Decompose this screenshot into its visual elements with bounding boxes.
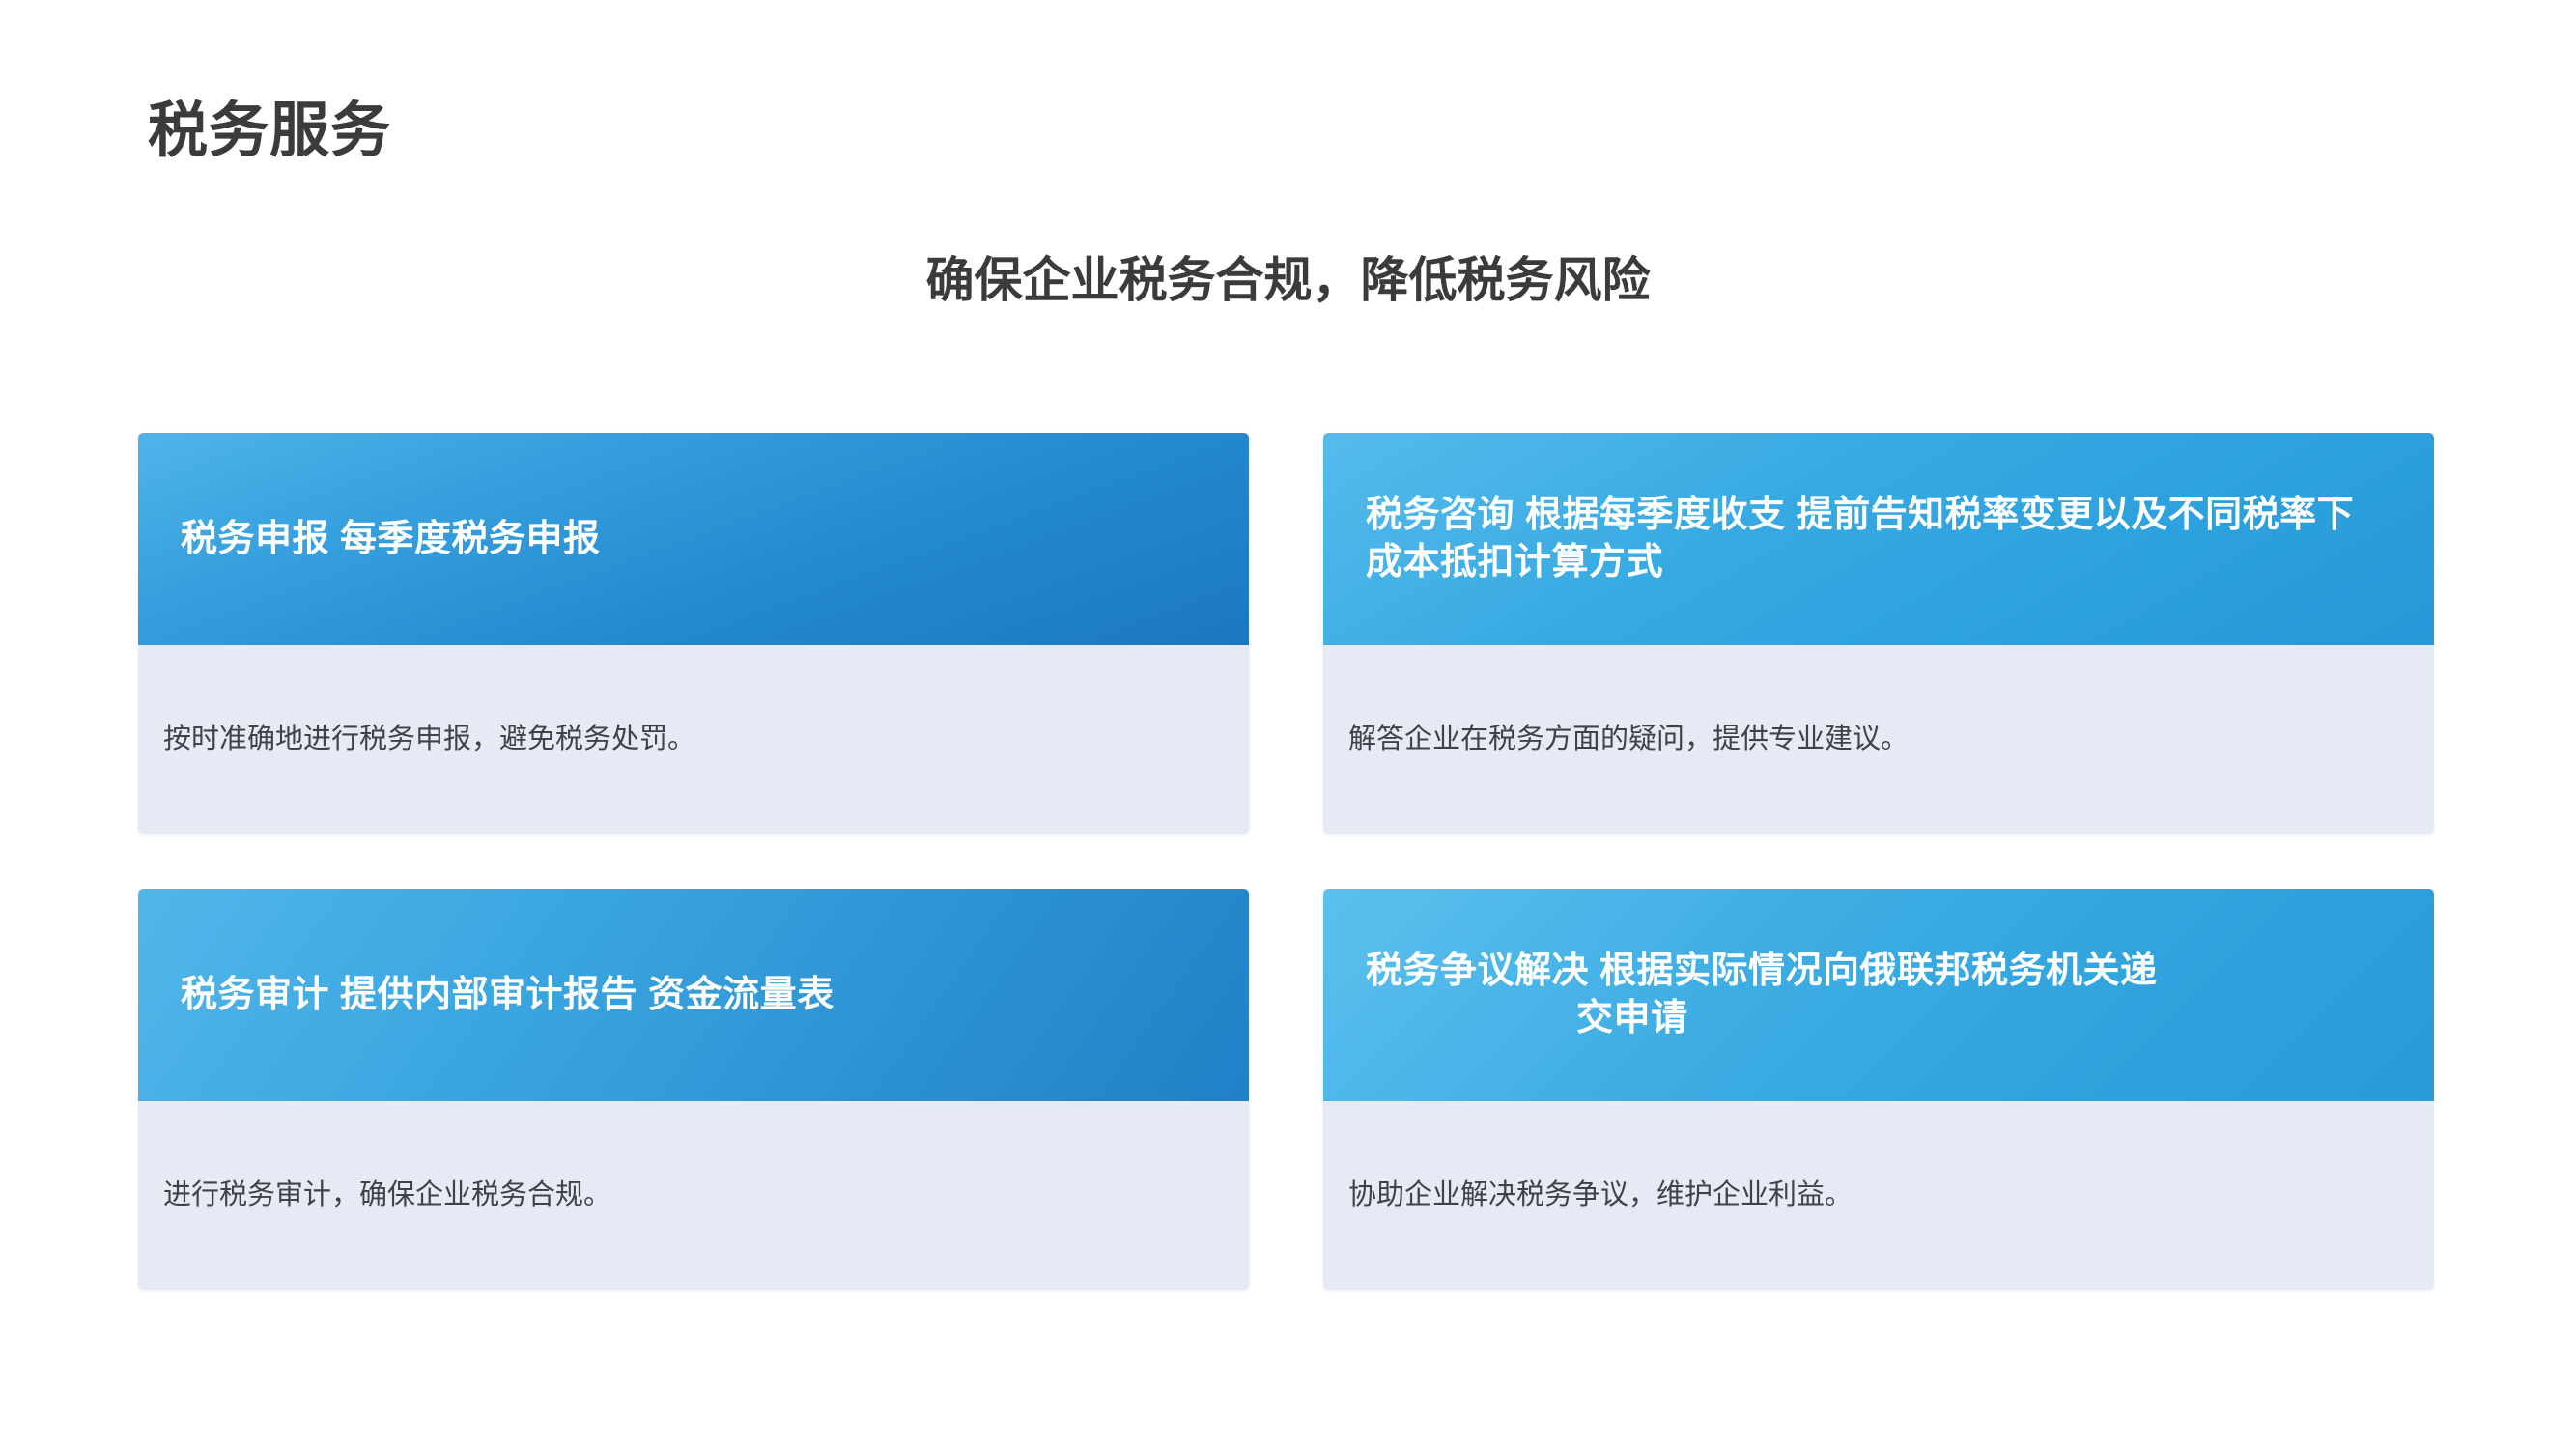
card-header-title-line2: 交申请	[1366, 995, 2392, 1042]
slide-canvas: 税务服务 确保企业税务合规，降低税务风险 税务申报 每季度税务申报 按时准确地进…	[0, 0, 2576, 1449]
card-body-tax-dispute-resolution: 协助企业解决税务争议，维护企业利益。	[1323, 1101, 2434, 1290]
service-card-tax-consulting[interactable]: 税务咨询 根据每季度收支 提前告知税率变更以及不同税率下 成本抵扣计算方式 解答…	[1323, 433, 2434, 834]
page-subtitle: 确保企业税务合规，降低税务风险	[0, 253, 2576, 309]
service-card-grid: 税务申报 每季度税务申报 按时准确地进行税务申报，避免税务处罚。 税务咨询 根据…	[138, 433, 2434, 1304]
card-body-text: 按时准确地进行税务申报，避免税务处罚。	[163, 719, 695, 761]
card-header-title: 税务审计 提供内部审计报告 资金流量表	[181, 972, 1206, 1019]
card-body-text: 进行税务审计，确保企业税务合规。	[163, 1175, 611, 1217]
card-header-tax-filing: 税务申报 每季度税务申报	[138, 433, 1249, 645]
card-body-tax-audit: 进行税务审计，确保企业税务合规。	[138, 1101, 1249, 1290]
page-title: 税务服务	[148, 99, 391, 164]
card-header-title: 税务咨询 根据每季度收支 提前告知税率变更以及不同税率下 成本抵扣计算方式	[1366, 492, 2392, 585]
service-card-tax-filing[interactable]: 税务申报 每季度税务申报 按时准确地进行税务申报，避免税务处罚。	[138, 433, 1249, 834]
card-header-tax-consulting: 税务咨询 根据每季度收支 提前告知税率变更以及不同税率下 成本抵扣计算方式	[1323, 433, 2434, 645]
card-header-tax-dispute-resolution: 税务争议解决 根据实际情况向俄联邦税务机关递 交申请	[1323, 889, 2434, 1101]
card-body-tax-filing: 按时准确地进行税务申报，避免税务处罚。	[138, 645, 1249, 834]
service-card-tax-audit[interactable]: 税务审计 提供内部审计报告 资金流量表 进行税务审计，确保企业税务合规。	[138, 889, 1249, 1290]
card-header-title: 税务申报 每季度税务申报	[181, 516, 1206, 563]
card-header-tax-audit: 税务审计 提供内部审计报告 资金流量表	[138, 889, 1249, 1101]
card-body-tax-consulting: 解答企业在税务方面的疑问，提供专业建议。	[1323, 645, 2434, 834]
card-body-text: 解答企业在税务方面的疑问，提供专业建议。	[1348, 719, 1909, 761]
card-header-title: 税务争议解决 根据实际情况向俄联邦税务机关递 交申请	[1366, 948, 2392, 1041]
service-card-tax-dispute-resolution[interactable]: 税务争议解决 根据实际情况向俄联邦税务机关递 交申请 协助企业解决税务争议，维护…	[1323, 889, 2434, 1290]
card-body-text: 协助企业解决税务争议，维护企业利益。	[1348, 1175, 1853, 1217]
card-header-title-line1: 税务争议解决 根据实际情况向俄联邦税务机关递	[1366, 951, 2158, 991]
